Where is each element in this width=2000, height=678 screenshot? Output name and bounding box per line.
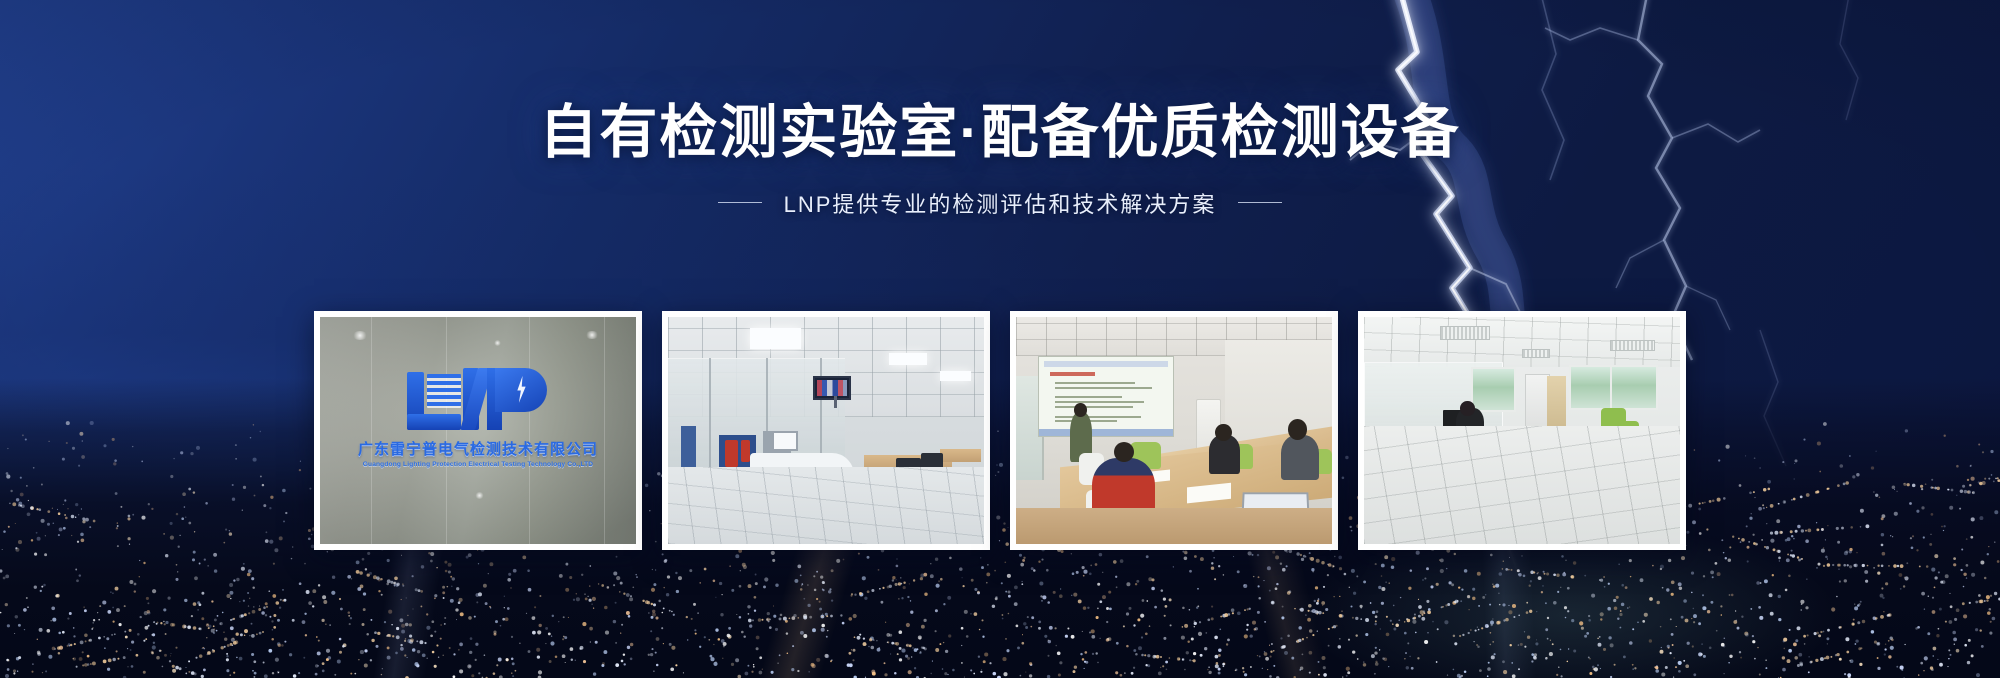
rule-right-decoration (1238, 202, 1282, 203)
rule-left-decoration (718, 202, 762, 203)
window (1471, 367, 1515, 412)
window (1569, 365, 1657, 410)
attendee (1209, 435, 1241, 474)
office-area-image (1364, 317, 1680, 544)
testing-laboratory-image (668, 317, 984, 544)
wall-glint (494, 340, 501, 346)
wall-seam (604, 317, 605, 544)
ceiling-light (750, 328, 801, 348)
tiled-floor (1364, 426, 1680, 544)
banner-title: 自有检测实验室·配备优质检测设备 (0, 102, 2000, 165)
attendee (1281, 435, 1319, 480)
gallery-photo-company-logo-wall[interactable]: 广东雷宁普电气检测技术有限公司 Guangdong Lighting Prote… (314, 311, 642, 550)
banner-subtitle: LNP提供专业的检测评估和技术解决方案 (784, 187, 1217, 219)
ceiling-vent (1522, 349, 1550, 358)
attendee-head (1288, 419, 1307, 439)
wood-floor (1016, 508, 1332, 544)
headline-block: 自有检测实验室·配备优质检测设备 LNP提供专业的检测评估和技术解决方案 (0, 102, 2000, 219)
meeting-room-training-image (1016, 317, 1332, 544)
monitor-mount (834, 396, 837, 408)
company-name-cn: 广东雷宁普电气检测技术有限公司 (358, 438, 598, 459)
company-logo-wall-image: 广东雷宁普电气检测技术有限公司 Guangdong Lighting Prote… (320, 317, 636, 544)
wall-glint (585, 331, 599, 339)
ceiling-light (889, 353, 927, 364)
gallery-photo-meeting-room-training[interactable] (1010, 311, 1338, 550)
ceiling-vent (1610, 340, 1654, 351)
test-equipment-red (741, 440, 750, 463)
company-name-en: Guangdong Lighting Protection Electrical… (358, 461, 598, 468)
test-equipment-red (725, 440, 738, 467)
attendee-head (1215, 424, 1231, 441)
test-equipment (681, 426, 697, 467)
presenter-head (1074, 403, 1087, 417)
lnp-logo-icon (403, 366, 553, 434)
gallery-photo-office-area[interactable] (1358, 311, 1686, 550)
worker-head (1460, 401, 1475, 416)
work-desk (940, 449, 981, 463)
wall-glint (352, 331, 368, 340)
wall-glint (475, 492, 484, 499)
console-monitor (772, 431, 798, 451)
ceiling-light (940, 371, 972, 380)
ceiling-vent (1440, 326, 1491, 340)
tiled-floor (668, 467, 984, 544)
wall-monitor (813, 376, 851, 400)
subtitle-row: LNP提供专业的检测评估和技术解决方案 (0, 187, 2000, 219)
lnp-logo-group: 广东雷宁普电气检测技术有限公司 Guangdong Lighting Prote… (358, 366, 598, 468)
photo-gallery: 广东雷宁普电气检测技术有限公司 Guangdong Lighting Prote… (314, 311, 1686, 550)
hero-banner: 自有检测实验室·配备优质检测设备 LNP提供专业的检测评估和技术解决方案 (0, 0, 2000, 678)
window-mullion (1610, 365, 1612, 410)
gallery-photo-testing-laboratory[interactable] (662, 311, 990, 550)
projected-slide (1038, 356, 1174, 438)
